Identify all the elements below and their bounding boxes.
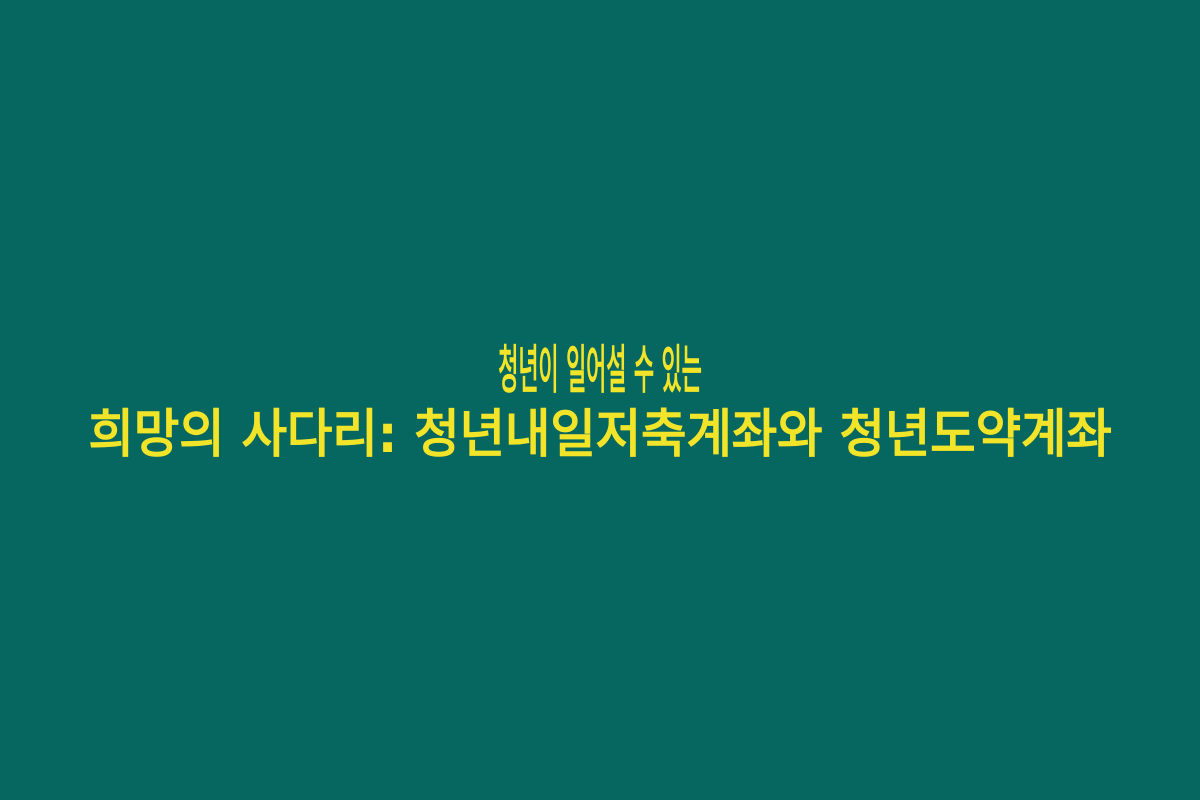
headline-line-2: 희망의 사다리: 청년내일저축계좌와 청년도약계좌 (28, 403, 1172, 467)
headline-block: 청년이 일어설 수 있는 희망의 사다리: 청년내일저축계좌와 청년도약계좌 (0, 339, 1200, 467)
headline-line-1: 청년이 일어설 수 있는 (347, 339, 854, 403)
title-card: 청년이 일어설 수 있는 희망의 사다리: 청년내일저축계좌와 청년도약계좌 (0, 0, 1200, 800)
